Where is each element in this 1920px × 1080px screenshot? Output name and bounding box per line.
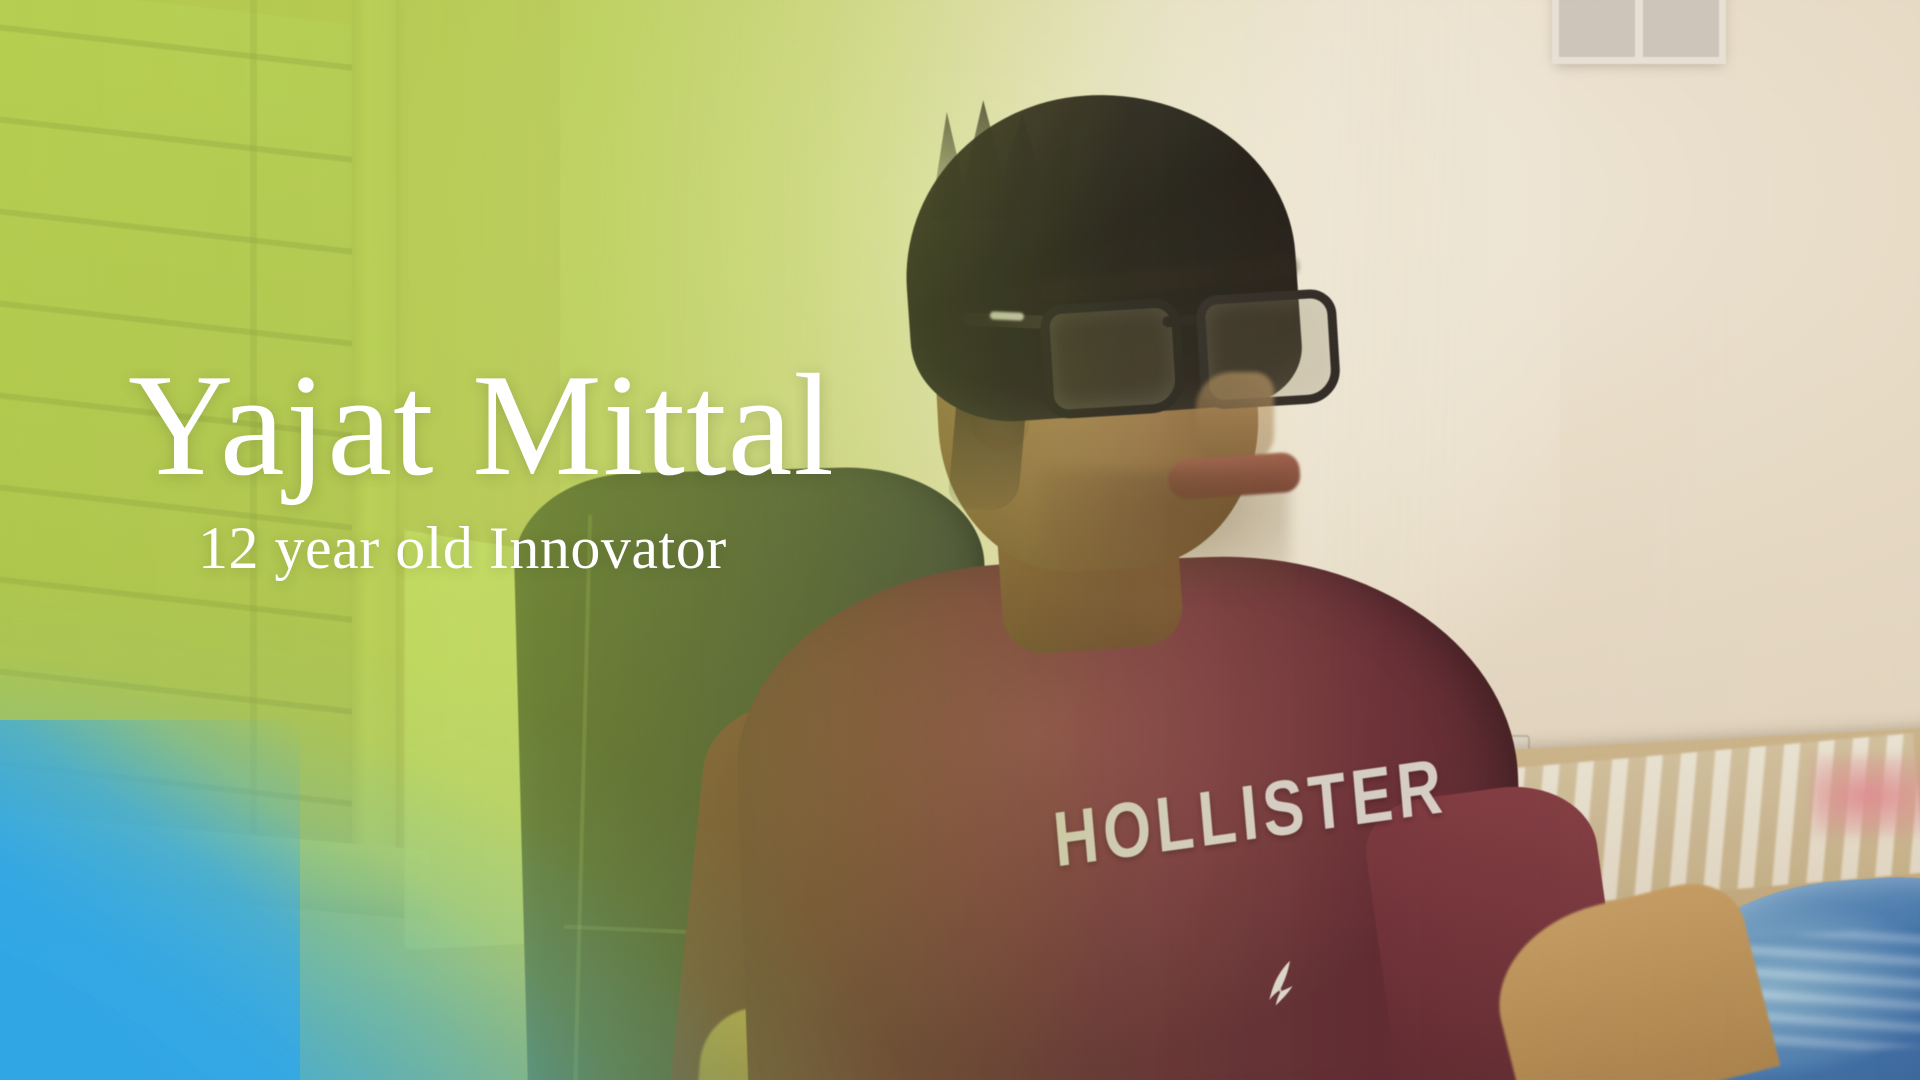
glasses-lens-left	[1039, 297, 1186, 419]
seagull-logo-icon	[1247, 950, 1318, 1018]
subtitle: 12 year old Innovator	[198, 518, 835, 578]
page-title: Yajat Mittal	[128, 352, 835, 498]
eyeglasses	[1008, 270, 1335, 419]
nose	[1196, 372, 1274, 464]
lower-third: Yajat Mittal 12 year old Innovator	[128, 352, 835, 578]
chin-shadow	[1040, 470, 1290, 590]
video-frame: HOLLISTER	[0, 0, 1920, 1080]
glasses-glint	[990, 311, 1024, 320]
